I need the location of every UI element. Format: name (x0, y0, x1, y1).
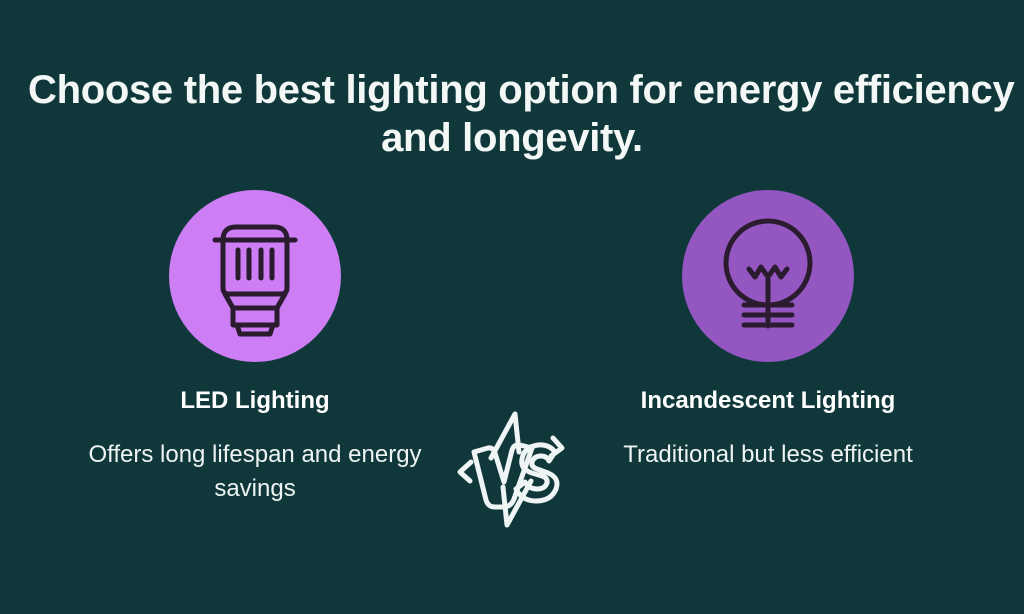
option-title-incandescent: Incandescent Lighting (548, 386, 988, 416)
page-title-line-1: Choose the best lighting option for ener… (28, 66, 996, 114)
page-title-line-2: and longevity. (28, 114, 996, 162)
option-description-led: Offers long lifespan and energy savings (35, 438, 475, 506)
option-description-incandescent: Traditional but less efficient (548, 438, 988, 472)
page-title: Choose the best lighting option for ener… (0, 66, 1024, 162)
option-caption-led: LED Lighting Offers long lifespan and en… (35, 386, 475, 506)
comparison-graphic: Choose the best lighting option for ener… (0, 0, 1024, 614)
option-caption-incandescent: Incandescent Lighting Traditional but le… (548, 386, 988, 472)
option-title-led: LED Lighting (35, 386, 475, 416)
incandescent-bulb-icon (715, 215, 821, 337)
option-badge-led (169, 190, 341, 362)
comparison-row (0, 190, 1024, 380)
option-badge-incandescent (682, 190, 854, 362)
led-bulb-icon (203, 214, 307, 338)
option-description-incandescent-line-1: Traditional but less efficient (623, 441, 913, 468)
option-description-led-line-1: Offers long lifespan and (88, 441, 341, 468)
